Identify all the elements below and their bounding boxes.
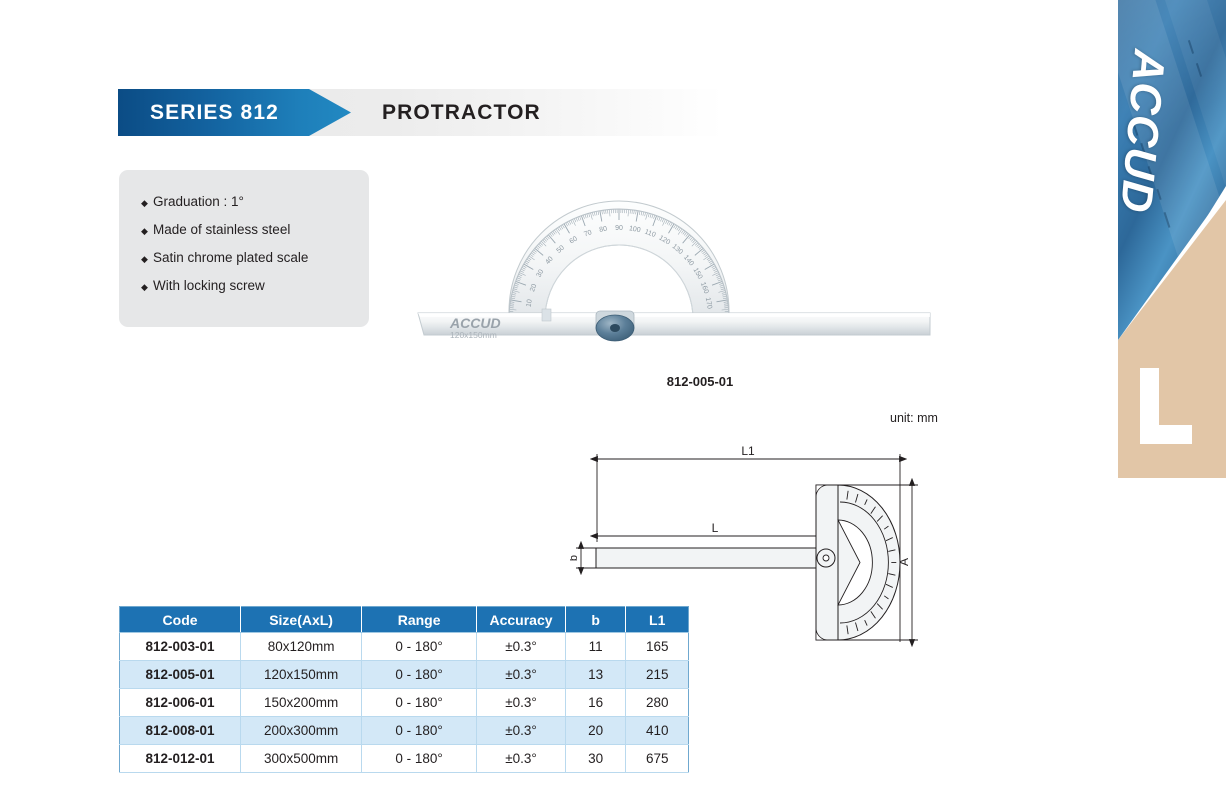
cell-b: 20 — [565, 717, 626, 745]
scale-number: 10 — [526, 299, 534, 308]
page-header-banner: SERIES 812 PROTRACTOR — [118, 89, 723, 136]
cell-accuracy: ±0.3° — [477, 689, 566, 717]
table-row: 812-008-01 200x300mm 0 - 180° ±0.3° 20 4… — [120, 717, 689, 745]
feature-text: Satin chrome plated scale — [153, 250, 308, 265]
dim-label-b: b — [570, 555, 580, 561]
list-item: ◆ Satin chrome plated scale — [141, 250, 308, 265]
cell-accuracy: ±0.3° — [477, 633, 566, 661]
list-item: ◆ Graduation : 1° — [141, 194, 308, 209]
product-image-caption: 812-005-01 — [560, 374, 840, 389]
cell-l1: 165 — [626, 633, 689, 661]
blade-size-text: 120x150mm — [450, 330, 497, 340]
cell-l1: 280 — [626, 689, 689, 717]
cell-size: 120x150mm — [241, 661, 362, 689]
blade-brand-text: ACCUD — [449, 315, 501, 331]
right-sidebar: ACCUD — [1118, 0, 1226, 800]
cell-size: 200x300mm — [241, 717, 362, 745]
diamond-bullet-icon: ◆ — [141, 283, 153, 292]
cell-range: 0 - 180° — [362, 689, 477, 717]
product-photo-protractor: 1020304050607080901001101201301401501601… — [410, 185, 950, 360]
cell-accuracy: ±0.3° — [477, 717, 566, 745]
list-item: ◆ Made of stainless steel — [141, 222, 308, 237]
cell-range: 0 - 180° — [362, 661, 477, 689]
dim-label-l1: L1 — [741, 444, 755, 458]
features-box: ◆ Graduation : 1° ◆ Made of stainless st… — [119, 170, 369, 327]
cell-code: 812-003-01 — [120, 633, 241, 661]
cell-size: 150x200mm — [241, 689, 362, 717]
cell-range: 0 - 180° — [362, 717, 477, 745]
column-header-l1: L1 — [626, 607, 689, 633]
cell-l1: 675 — [626, 745, 689, 773]
drawing-blade — [596, 548, 832, 568]
protractor-zero-marker — [542, 309, 551, 321]
cell-code: 812-008-01 — [120, 717, 241, 745]
cell-b: 13 — [565, 661, 626, 689]
list-item: ◆ With locking screw — [141, 278, 308, 293]
cell-size: 300x500mm — [241, 745, 362, 773]
column-header-code: Code — [120, 607, 241, 633]
column-header-size: Size(AxL) — [241, 607, 362, 633]
cell-code: 812-006-01 — [120, 689, 241, 717]
diamond-bullet-icon: ◆ — [141, 199, 153, 208]
feature-text: With locking screw — [153, 278, 265, 293]
spec-table-container: Code Size(AxL) Range Accuracy b L1 812-0… — [119, 606, 689, 773]
cell-size: 80x120mm — [241, 633, 362, 661]
dim-label-l: L — [712, 521, 719, 535]
column-header-accuracy: Accuracy — [477, 607, 566, 633]
table-row: 812-003-01 80x120mm 0 - 180° ±0.3° 11 16… — [120, 633, 689, 661]
cell-accuracy: ±0.3° — [477, 661, 566, 689]
cell-b: 16 — [565, 689, 626, 717]
features-list: ◆ Graduation : 1° ◆ Made of stainless st… — [141, 194, 308, 306]
feature-text: Made of stainless steel — [153, 222, 290, 237]
cell-accuracy: ±0.3° — [477, 745, 566, 773]
sidebar-letter-l — [1140, 368, 1192, 444]
cell-range: 0 - 180° — [362, 745, 477, 773]
cell-b: 11 — [565, 633, 626, 661]
scale-number: 80 — [599, 226, 608, 234]
scale-number: 90 — [615, 225, 623, 232]
table-header-row: Code Size(AxL) Range Accuracy b L1 — [120, 607, 689, 633]
spec-table: Code Size(AxL) Range Accuracy b L1 812-0… — [119, 606, 689, 773]
column-header-range: Range — [362, 607, 477, 633]
table-row: 812-006-01 150x200mm 0 - 180° ±0.3° 16 2… — [120, 689, 689, 717]
cell-l1: 410 — [626, 717, 689, 745]
table-row: 812-005-01 120x150mm 0 - 180° ±0.3° 13 2… — [120, 661, 689, 689]
cell-l1: 215 — [626, 661, 689, 689]
column-header-b: b — [565, 607, 626, 633]
unit-note: unit: mm — [890, 411, 938, 425]
diamond-bullet-icon: ◆ — [141, 227, 153, 236]
cell-code: 812-005-01 — [120, 661, 241, 689]
dim-label-a: A — [897, 558, 911, 566]
diamond-bullet-icon: ◆ — [141, 255, 153, 264]
cell-b: 30 — [565, 745, 626, 773]
table-row: 812-012-01 300x500mm 0 - 180° ±0.3° 30 6… — [120, 745, 689, 773]
cell-code: 812-012-01 — [120, 745, 241, 773]
series-label: SERIES 812 — [150, 89, 279, 136]
locking-screw-knob — [595, 311, 635, 341]
letter-l-foot — [1140, 425, 1192, 444]
feature-text: Graduation : 1° — [153, 194, 244, 209]
cell-range: 0 - 180° — [362, 633, 477, 661]
page-title: PROTRACTOR — [382, 89, 541, 136]
